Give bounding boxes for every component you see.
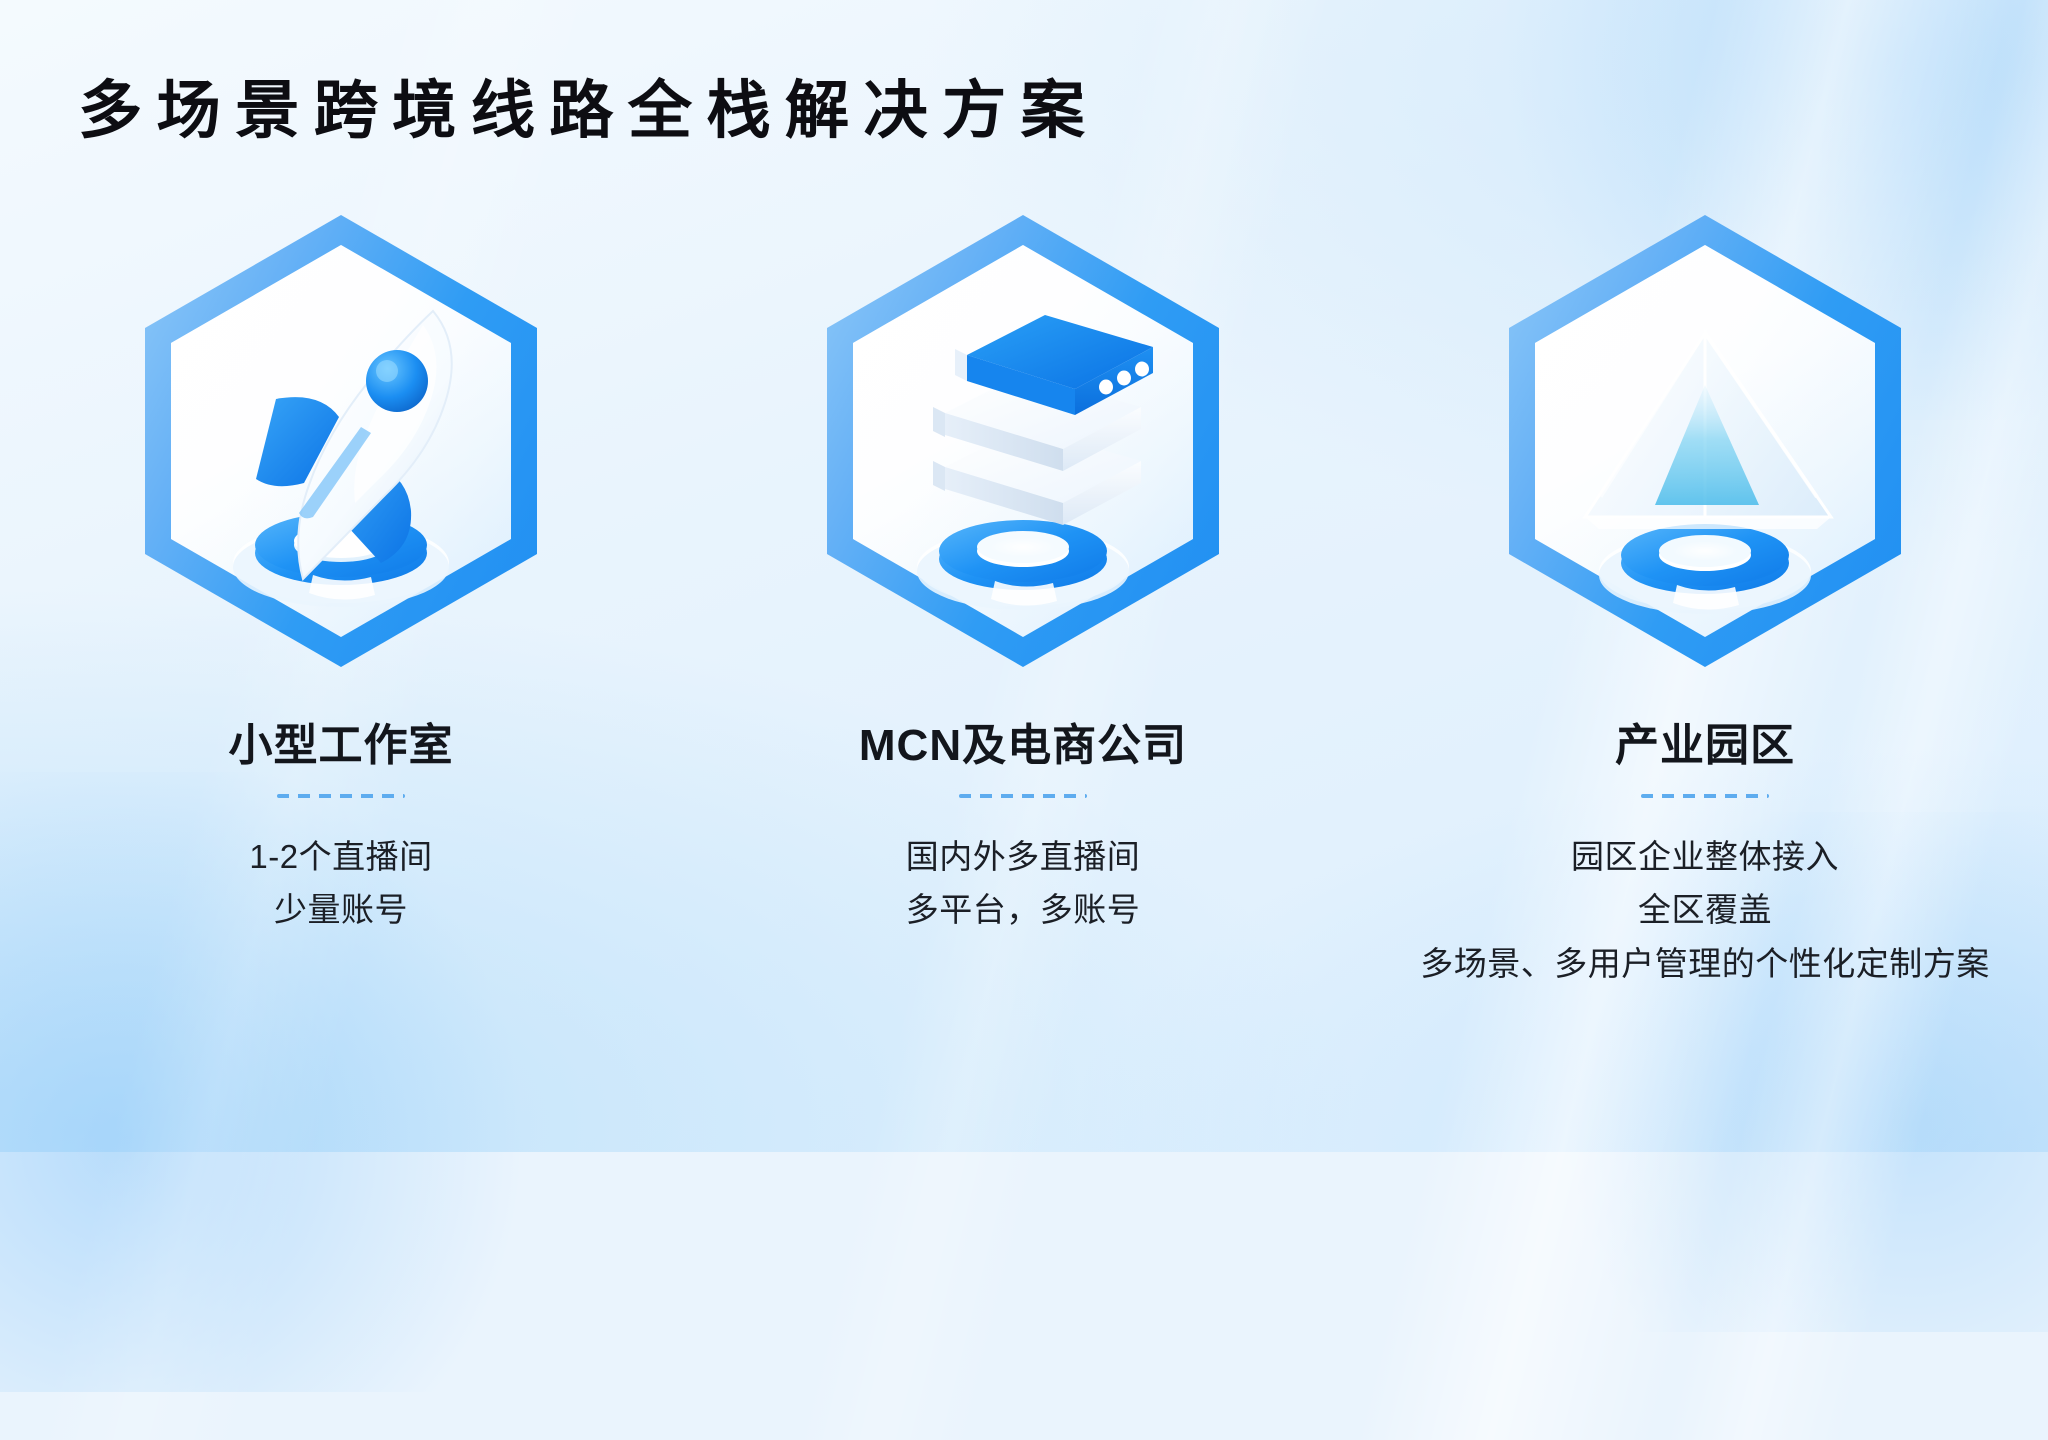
solution-card[interactable]: 产业园区 园区企业整体接入 全区覆盖 多场景、多用户管理的个性化定制方案 — [1364, 215, 2046, 990]
card-line: 园区企业整体接入 — [1420, 830, 1990, 883]
dashed-divider — [1641, 794, 1769, 798]
card-line: 全区覆盖 — [1420, 883, 1990, 936]
hexagon-badge — [1509, 215, 1901, 667]
card-title: MCN及电商公司 — [859, 721, 1187, 772]
dashed-divider — [959, 794, 1087, 798]
solution-card[interactable]: MCN及电商公司 国内外多直播间 多平台，多账号 — [682, 215, 1364, 990]
card-line: 国内外多直播间 — [906, 830, 1141, 883]
dashed-divider — [277, 794, 405, 798]
pyramid-icon — [1509, 215, 1901, 667]
card-description: 国内外多直播间 多平台，多账号 — [906, 830, 1141, 937]
server-stack-icon — [827, 215, 1219, 667]
hexagon-badge — [827, 215, 1219, 667]
card-line: 1-2个直播间 — [249, 830, 432, 883]
hexagon-badge — [145, 215, 537, 667]
card-line: 多平台，多账号 — [906, 883, 1141, 936]
rocket-icon — [145, 215, 537, 667]
solution-card-list: 小型工作室 1-2个直播间 少量账号 — [0, 215, 2048, 990]
card-description: 园区企业整体接入 全区覆盖 多场景、多用户管理的个性化定制方案 — [1420, 830, 1990, 990]
card-description: 1-2个直播间 少量账号 — [249, 830, 432, 937]
card-title: 产业园区 — [1615, 721, 1795, 772]
page-title: 多场景跨境线路全栈解决方案 — [78, 60, 1099, 151]
card-line: 多场景、多用户管理的个性化定制方案 — [1420, 937, 1990, 990]
solution-card[interactable]: 小型工作室 1-2个直播间 少量账号 — [0, 215, 682, 990]
card-line: 少量账号 — [249, 883, 432, 936]
card-title: 小型工作室 — [229, 721, 454, 772]
